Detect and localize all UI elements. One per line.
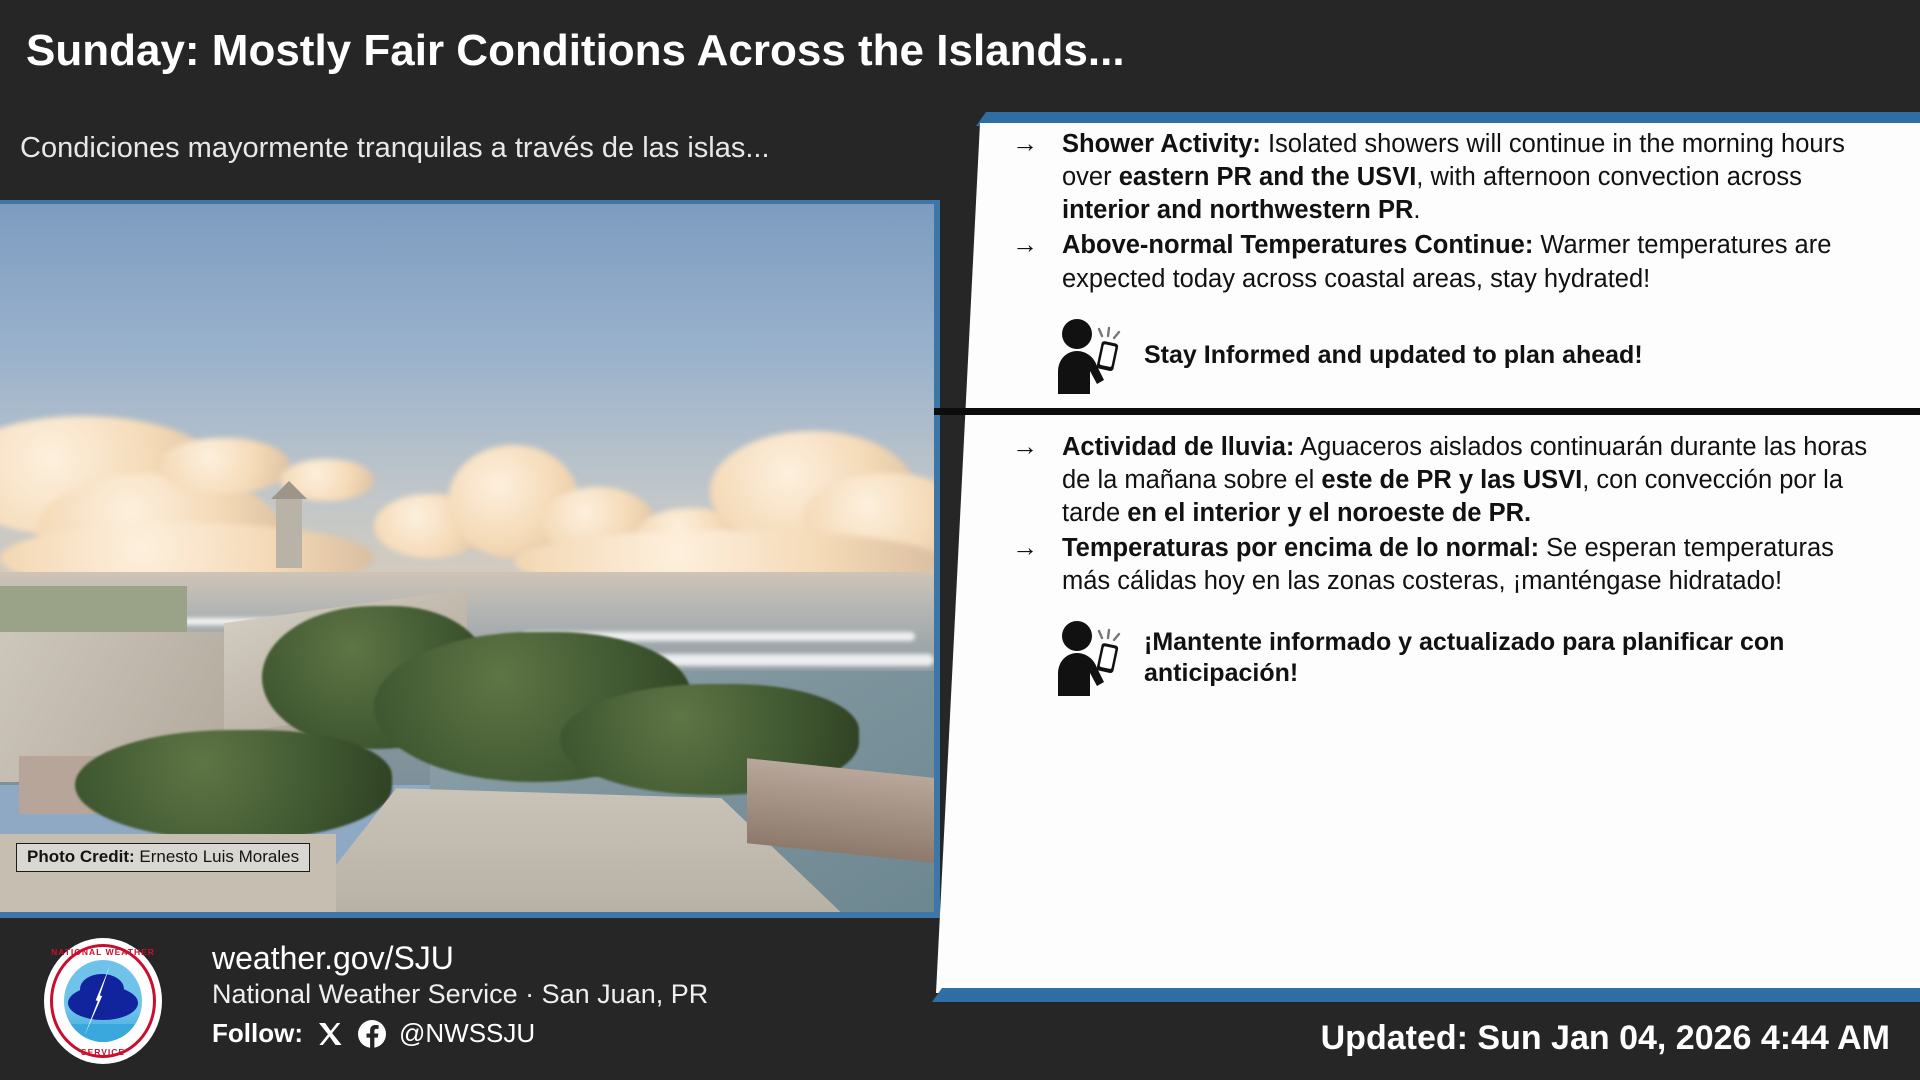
bullet-item: →Actividad de lluvia: Aguaceros aislados…	[1006, 431, 1886, 530]
nws-logo-text-bottom: SERVICE	[44, 1047, 162, 1057]
footer-text-block: weather.gov/SJU National Weather Service…	[212, 940, 708, 1049]
arrow-bullet-icon: →	[1012, 430, 1038, 464]
spanish-callout: ¡Mantente informado y actualizado para p…	[1006, 620, 1886, 696]
follow-row: Follow: @NWSSJU	[212, 1018, 708, 1049]
bullet-emphasis: eastern PR and the USVI	[1119, 163, 1417, 191]
arrow-bullet-icon: →	[1012, 531, 1038, 565]
bullet-emphasis: Shower Activity:	[1062, 130, 1261, 158]
photo-credit-name: Ernesto Luis Morales	[139, 847, 299, 866]
page-subheadline-spanish: Condiciones mayormente tranquilas a trav…	[20, 132, 770, 165]
office-name: National Weather Service · San Juan, PR	[212, 979, 708, 1010]
arrow-bullet-icon: →	[1012, 228, 1038, 262]
updated-timestamp: Updated: Sun Jan 04, 2026 4:44 AM	[1321, 1019, 1890, 1058]
bullet-emphasis: este de PR y las USVI	[1321, 466, 1582, 494]
bullet-emphasis: Actividad de lluvia:	[1062, 433, 1294, 461]
facebook-icon[interactable]	[357, 1019, 387, 1049]
social-handle[interactable]: @NWSSJU	[399, 1018, 535, 1049]
photo-credit: Photo Credit: Ernesto Luis Morales	[16, 843, 310, 872]
website-url[interactable]: weather.gov/SJU	[212, 940, 708, 977]
bullet-item: →Shower Activity: Isolated showers will …	[1006, 128, 1886, 227]
bullet-text: , with afternoon convection across	[1416, 163, 1802, 191]
bullet-text: .	[1413, 196, 1420, 224]
english-bullet-list: →Shower Activity: Isolated showers will …	[1006, 128, 1886, 296]
language-divider	[934, 408, 1920, 415]
english-callout: Stay Informed and updated to plan ahead!	[1006, 318, 1886, 394]
fort-sentry-box	[276, 498, 302, 568]
photo-panel: Photo Credit: Ernesto Luis Morales	[0, 198, 940, 918]
arrow-bullet-icon: →	[1012, 127, 1038, 161]
bullet-emphasis: Temperaturas por encima de lo normal:	[1062, 534, 1539, 562]
follow-label: Follow:	[212, 1018, 303, 1049]
coastal-sunrise-photo: Photo Credit: Ernesto Luis Morales	[0, 204, 934, 912]
bullet-item: →Temperaturas por encima de lo normal: S…	[1006, 532, 1886, 598]
spanish-callout-text: ¡Mantente informado y actualizado para p…	[1144, 627, 1886, 690]
bullet-item: →Above-normal Temperatures Continue: War…	[1006, 229, 1886, 295]
bullet-emphasis: Above-normal Temperatures Continue:	[1062, 231, 1533, 259]
vegetation	[75, 730, 393, 841]
panel-bottom-accent-bar	[930, 988, 1920, 1002]
nws-logo-text-top: NATIONAL WEATHER	[44, 947, 162, 957]
bullet-emphasis: en el interior y el noroeste de PR.	[1127, 499, 1531, 527]
nws-logo: NATIONAL WEATHER SERVICE	[44, 938, 162, 1064]
page-headline: Sunday: Mostly Fair Conditions Across th…	[26, 26, 1125, 76]
forecast-panel: →Shower Activity: Isolated showers will …	[930, 112, 1920, 1002]
person-with-phone-icon	[1052, 318, 1124, 394]
english-callout-text: Stay Informed and updated to plan ahead!	[1144, 340, 1643, 371]
panel-content: →Shower Activity: Isolated showers will …	[1006, 128, 1886, 696]
spanish-bullet-list: →Actividad de lluvia: Aguaceros aislados…	[1006, 431, 1886, 599]
photo-credit-label: Photo Credit:	[27, 847, 135, 866]
x-twitter-icon[interactable]	[315, 1019, 345, 1049]
bullet-emphasis: interior and northwestern PR	[1062, 196, 1413, 224]
person-with-phone-icon	[1052, 620, 1124, 696]
fort-parapet	[747, 758, 934, 864]
